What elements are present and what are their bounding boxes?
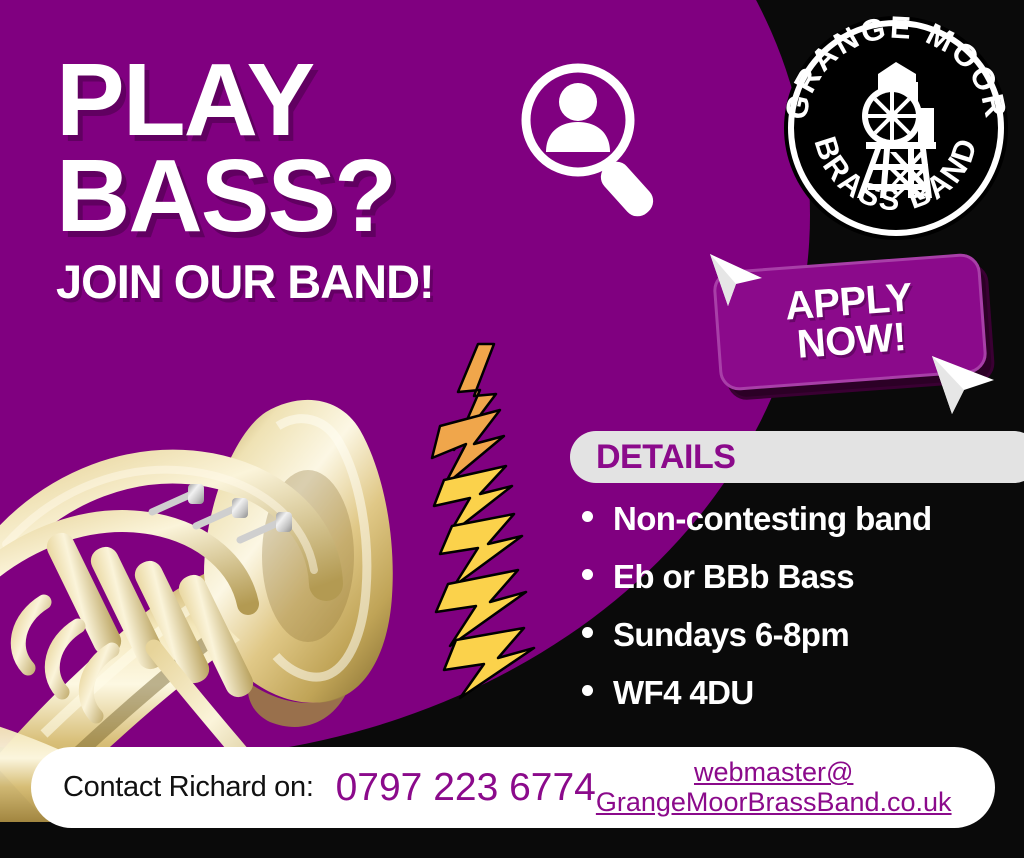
paper-plane-cursor-icon	[928, 352, 1002, 418]
contact-email-line1: webmaster@	[694, 757, 853, 787]
contact-phone-number[interactable]: 0797 223 6774	[336, 766, 596, 810]
details-list: Non-contesting band Eb or BBb Bass Sunda…	[582, 500, 1024, 732]
details-item-text: Sundays 6-8pm	[613, 616, 849, 654]
bullet-dot-icon	[582, 511, 593, 522]
recruitment-poster: PLAY BASS? JOIN OUR BAND! GRANGE MOOR BR…	[0, 0, 1024, 858]
band-logo-badge: GRANGE MOOR BRASS BAND	[780, 12, 1012, 244]
bullet-dot-icon	[582, 685, 593, 696]
contact-email-link[interactable]: webmaster@ GrangeMoorBrassBand.co.uk	[596, 758, 952, 816]
contact-email-line2: GrangeMoorBrassBand.co.uk	[596, 787, 952, 817]
details-list-item: Non-contesting band	[582, 500, 1024, 538]
contact-bar: Contact Richard on: 0797 223 6774 webmas…	[31, 747, 995, 828]
contact-label: Contact Richard on:	[63, 771, 314, 804]
paper-plane-cursor-icon	[704, 248, 774, 310]
details-list-item: WF4 4DU	[582, 674, 1024, 712]
details-list-item: Eb or BBb Bass	[582, 558, 1024, 596]
headline-main: PLAY BASS?	[56, 52, 576, 244]
apply-now-line2: NOW!	[796, 318, 908, 365]
details-item-text: WF4 4DU	[613, 674, 754, 712]
bullet-dot-icon	[582, 569, 593, 580]
bullet-dot-icon	[582, 627, 593, 638]
details-item-text: Non-contesting band	[613, 500, 932, 538]
headline-sub: JOIN OUR BAND!	[56, 258, 576, 305]
details-list-item: Sundays 6-8pm	[582, 616, 1024, 654]
details-heading-label: DETAILS	[596, 438, 735, 477]
headline-block: PLAY BASS? JOIN OUR BAND!	[56, 52, 576, 305]
person-search-icon	[512, 58, 672, 218]
details-item-text: Eb or BBb Bass	[613, 558, 854, 596]
details-heading-pill: DETAILS	[570, 431, 1024, 483]
